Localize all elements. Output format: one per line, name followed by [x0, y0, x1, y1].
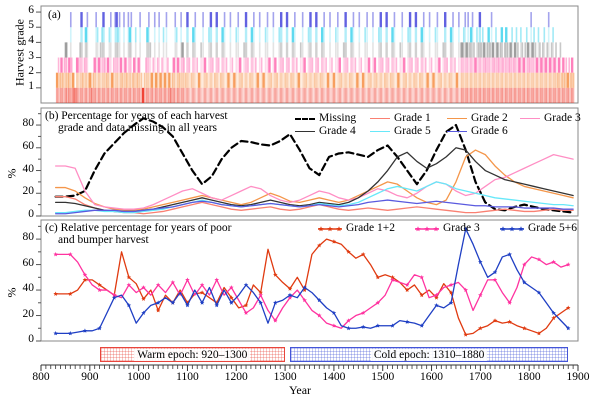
legend-label: Grade 2: [471, 112, 508, 124]
legend-label: Grade 3: [544, 112, 581, 124]
xtick-label: 800: [19, 371, 63, 383]
ytick-label: 60: [0, 140, 34, 152]
xtick-label: 1600: [410, 371, 454, 383]
legend-label: Grade 3: [443, 222, 480, 234]
panel-b-title-line2: grade and data missing in all years: [58, 122, 217, 135]
ytick-label: 4: [0, 34, 34, 46]
epoch-band-cold: Cold epoch: 1310–1880: [290, 347, 568, 362]
legend-swatch-grade-1-2: [318, 223, 342, 235]
legend-swatch-grade-3: [415, 223, 439, 235]
ytick-label: 80: [0, 117, 34, 129]
xtick-label: 1200: [214, 371, 258, 383]
legend-swatch-missing: [295, 118, 315, 120]
legend-swatch-grade-5: [370, 131, 390, 132]
figure-root: Harvest grade 123456 (a) % 020406080 (b)…: [0, 0, 600, 402]
legend-label: Grade 5: [394, 125, 431, 137]
ytick-label: 2: [0, 65, 34, 77]
x-axis-label: Year: [0, 383, 600, 398]
legend-swatch-grade-2: [447, 118, 467, 119]
panel-c-title-line1: (c) Relative percentage for years of poo…: [45, 222, 231, 235]
xtick-label: 1700: [458, 371, 502, 383]
xtick-label: 1900: [556, 371, 600, 383]
epoch-label: Warm epoch: 920–1300: [134, 349, 250, 361]
ytick-label: 0: [0, 333, 34, 345]
panel-b-title-line1: (b) Percentage for years of each harvest: [45, 110, 228, 123]
xtick-label: 1000: [117, 371, 161, 383]
panel-a-plot: [0, 0, 600, 402]
panel-a-tag: (a): [48, 9, 61, 22]
legend-label: Grade 6: [471, 125, 508, 137]
xtick-label: 1800: [507, 371, 551, 383]
ytick-label: 40: [0, 282, 34, 294]
epoch-label: Cold epoch: 1310–1880: [371, 349, 488, 361]
legend-swatch-grade-4: [295, 131, 315, 132]
legend-swatch-grade-3: [520, 118, 540, 119]
xtick-label: 1400: [312, 371, 356, 383]
legend-label: Grade 5+6: [528, 222, 577, 234]
panel-c-title-line2: and bumper harvest: [58, 234, 149, 247]
legend-swatch-grade-6: [447, 131, 467, 132]
xtick-label: 1500: [361, 371, 405, 383]
ytick-label: 20: [0, 308, 34, 320]
ytick-label: 5: [0, 19, 34, 31]
epoch-band-warm: Warm epoch: 920–1300: [100, 347, 286, 362]
ytick-label: 1: [0, 80, 34, 92]
ytick-label: 3: [0, 50, 34, 62]
legend-swatch-grade-5-6: [500, 223, 524, 235]
ytick-label: 20: [0, 185, 34, 197]
legend-label: Grade 1+2: [346, 222, 395, 234]
ytick-label: 60: [0, 257, 34, 269]
xtick-label: 900: [68, 371, 112, 383]
legend-label: Grade 1: [394, 112, 431, 124]
legend-label: Missing: [319, 112, 356, 124]
ytick-label: 80: [0, 231, 34, 243]
ytick-label: 6: [0, 4, 34, 16]
ytick-label: 40: [0, 163, 34, 175]
xtick-label: 1100: [165, 371, 209, 383]
ytick-label: 0: [0, 208, 34, 220]
xtick-label: 1300: [263, 371, 307, 383]
legend-label: Grade 4: [319, 125, 356, 137]
legend-swatch-grade-1: [370, 118, 390, 119]
